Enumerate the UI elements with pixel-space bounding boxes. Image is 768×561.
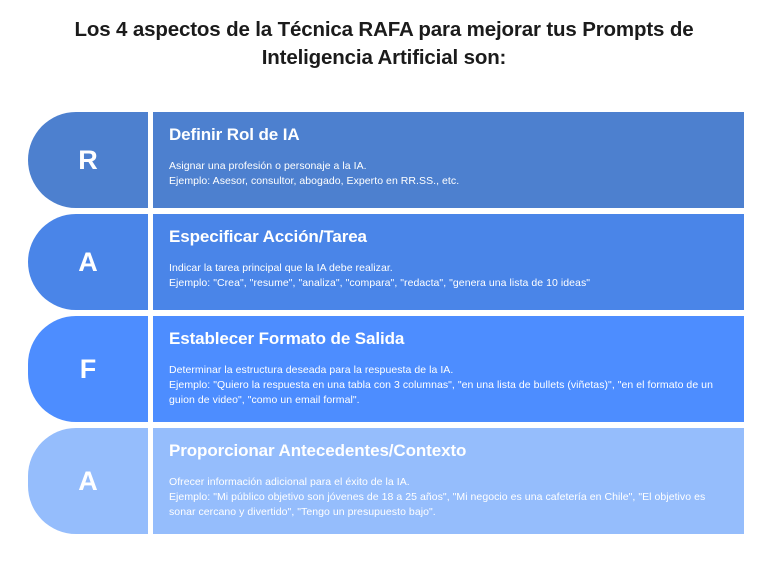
panel-body-line: Ejemplo: "Mi público objetivo son jóvene… xyxy=(169,490,728,520)
panel-body-line: Ejemplo: "Quiero la respuesta en una tab… xyxy=(169,378,728,408)
panel-heading-a2: Proporcionar Antecedentes/Contexto xyxy=(169,441,728,461)
panel-body-line: Determinar la estructura deseada para la… xyxy=(169,363,728,378)
letter-badge-a1: A xyxy=(28,214,148,310)
panel-body-f: Determinar la estructura deseada para la… xyxy=(169,363,728,408)
panel-body-line: Indicar la tarea principal que la IA deb… xyxy=(169,261,728,276)
rafa-row-a1: A Especificar Acción/Tarea Indicar la ta… xyxy=(0,214,768,310)
content-panel-r: Definir Rol de IA Asignar una profesión … xyxy=(153,112,744,208)
panel-heading-f: Establecer Formato de Salida xyxy=(169,329,728,349)
page-title: Los 4 aspectos de la Técnica RAFA para m… xyxy=(0,0,768,73)
content-panel-a2: Proporcionar Antecedentes/Contexto Ofrec… xyxy=(153,428,744,534)
panel-heading-r: Definir Rol de IA xyxy=(169,125,728,145)
panel-body-line: Asignar una profesión o personaje a la I… xyxy=(169,159,728,174)
letter-badge-f: F xyxy=(28,316,148,422)
letter-badge-a2-label: A xyxy=(78,468,98,495)
rafa-row-f: F Establecer Formato de Salida Determina… xyxy=(0,316,768,422)
letter-badge-f-label: F xyxy=(80,356,97,383)
content-panel-a1: Especificar Acción/Tarea Indicar la tare… xyxy=(153,214,744,310)
rafa-row-r: R Definir Rol de IA Asignar una profesió… xyxy=(0,112,768,208)
letter-badge-a1-label: A xyxy=(78,249,98,276)
letter-badge-r-label: R xyxy=(78,147,98,174)
panel-body-line: Ejemplo: Asesor, consultor, abogado, Exp… xyxy=(169,174,728,189)
infographic-page: Los 4 aspectos de la Técnica RAFA para m… xyxy=(0,0,768,561)
letter-badge-r: R xyxy=(28,112,148,208)
panel-body-line: Ejemplo: "Crea", "resume", "analiza", "c… xyxy=(169,276,728,291)
panel-body-r: Asignar una profesión o personaje a la I… xyxy=(169,159,728,189)
content-panel-f: Establecer Formato de Salida Determinar … xyxy=(153,316,744,422)
rafa-row-a2: A Proporcionar Antecedentes/Contexto Ofr… xyxy=(0,428,768,534)
panel-body-line: Ofrecer información adicional para el éx… xyxy=(169,475,728,490)
panel-heading-a1: Especificar Acción/Tarea xyxy=(169,227,728,247)
letter-badge-a2: A xyxy=(28,428,148,534)
panel-body-a1: Indicar la tarea principal que la IA deb… xyxy=(169,261,728,291)
rafa-rows-container: R Definir Rol de IA Asignar una profesió… xyxy=(0,112,768,540)
panel-body-a2: Ofrecer información adicional para el éx… xyxy=(169,475,728,520)
